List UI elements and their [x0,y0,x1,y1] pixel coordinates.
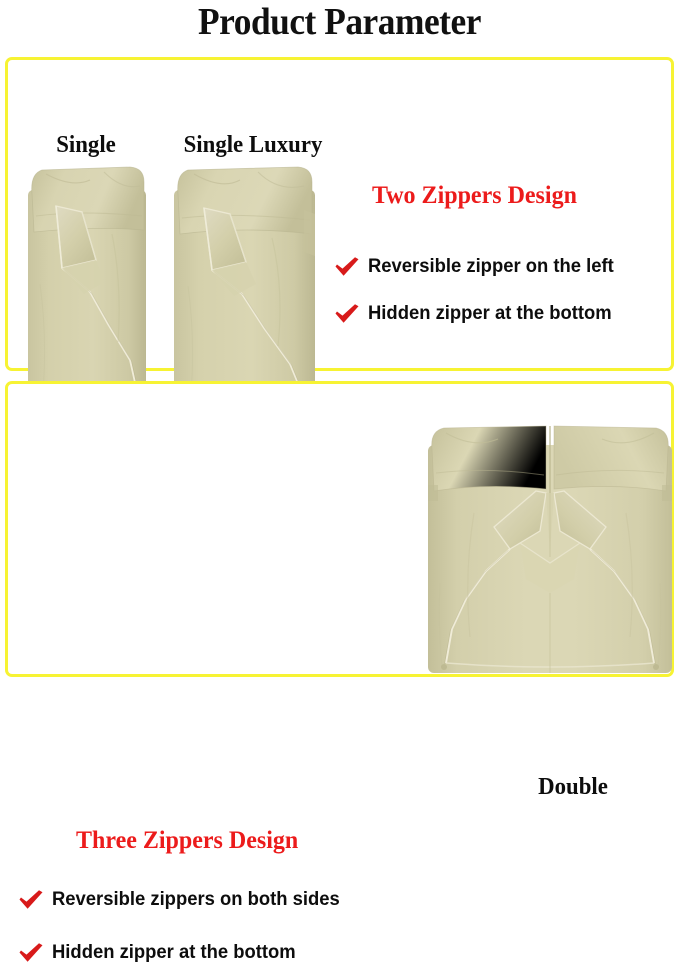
red-check-icon [18,942,44,964]
double-bed-liner-illustration [424,423,676,675]
feature-label: Hidden zipper at the bottom [52,942,296,964]
feature-hidden-zipper-bottom-double: Hidden zipper at the bottom [18,942,303,964]
feature-label: Reversible zippers on both sides [52,889,340,911]
feature-reversible-zippers-both-sides: Reversible zippers on both sides [18,889,349,911]
feature-reversible-zipper-left: Reversible zipper on the left [334,256,621,278]
heading-three-zippers-design: Three Zippers Design [76,827,298,855]
feature-label: Hidden zipper at the bottom [368,303,612,325]
red-check-icon [334,256,360,278]
bed-label-single: Single [25,132,147,158]
page-title: Product Parameter [24,2,655,42]
panel-two-zippers: Single Single Luxury Two Zippers Design … [5,57,674,371]
feature-hidden-zipper-bottom: Hidden zipper at the bottom [334,303,619,325]
heading-two-zippers-design: Two Zippers Design [372,182,577,210]
bed-label-single-luxury: Single Luxury [165,132,342,158]
red-check-icon [334,303,360,325]
bed-label-double: Double [483,774,664,800]
feature-label: Reversible zipper on the left [368,256,614,278]
red-check-icon [18,889,44,911]
